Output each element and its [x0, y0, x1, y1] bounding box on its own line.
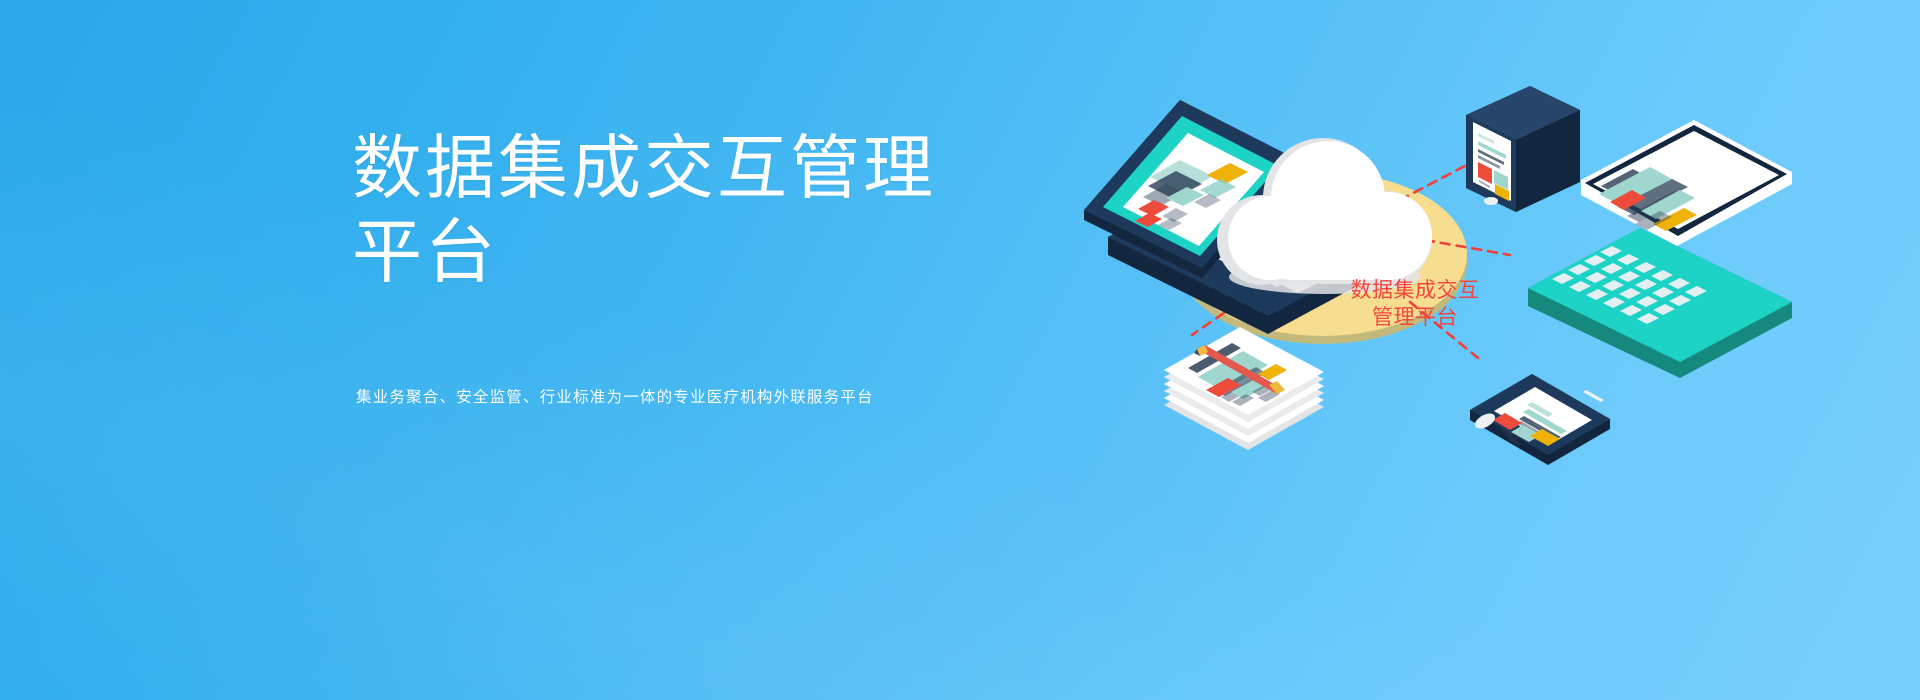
smartphone: [1470, 374, 1610, 465]
page-title: 数据集成交互管理 平台: [352, 126, 972, 294]
hero-text-block: 数据集成交互管理 平台: [352, 126, 972, 294]
document-stack: [1164, 327, 1324, 450]
illustration-svg: [1080, 80, 1820, 560]
hero-banner: 数据集成交互管理 平台 集业务聚合、安全监管、行业标准为一体的专业医疗机构外联服…: [0, 0, 1920, 700]
hero-subtitle: 集业务聚合、安全监管、行业标准为一体的专业医疗机构外联服务平台: [356, 387, 874, 409]
platform-illustration: [1080, 80, 1820, 560]
tablet: [1466, 86, 1580, 212]
